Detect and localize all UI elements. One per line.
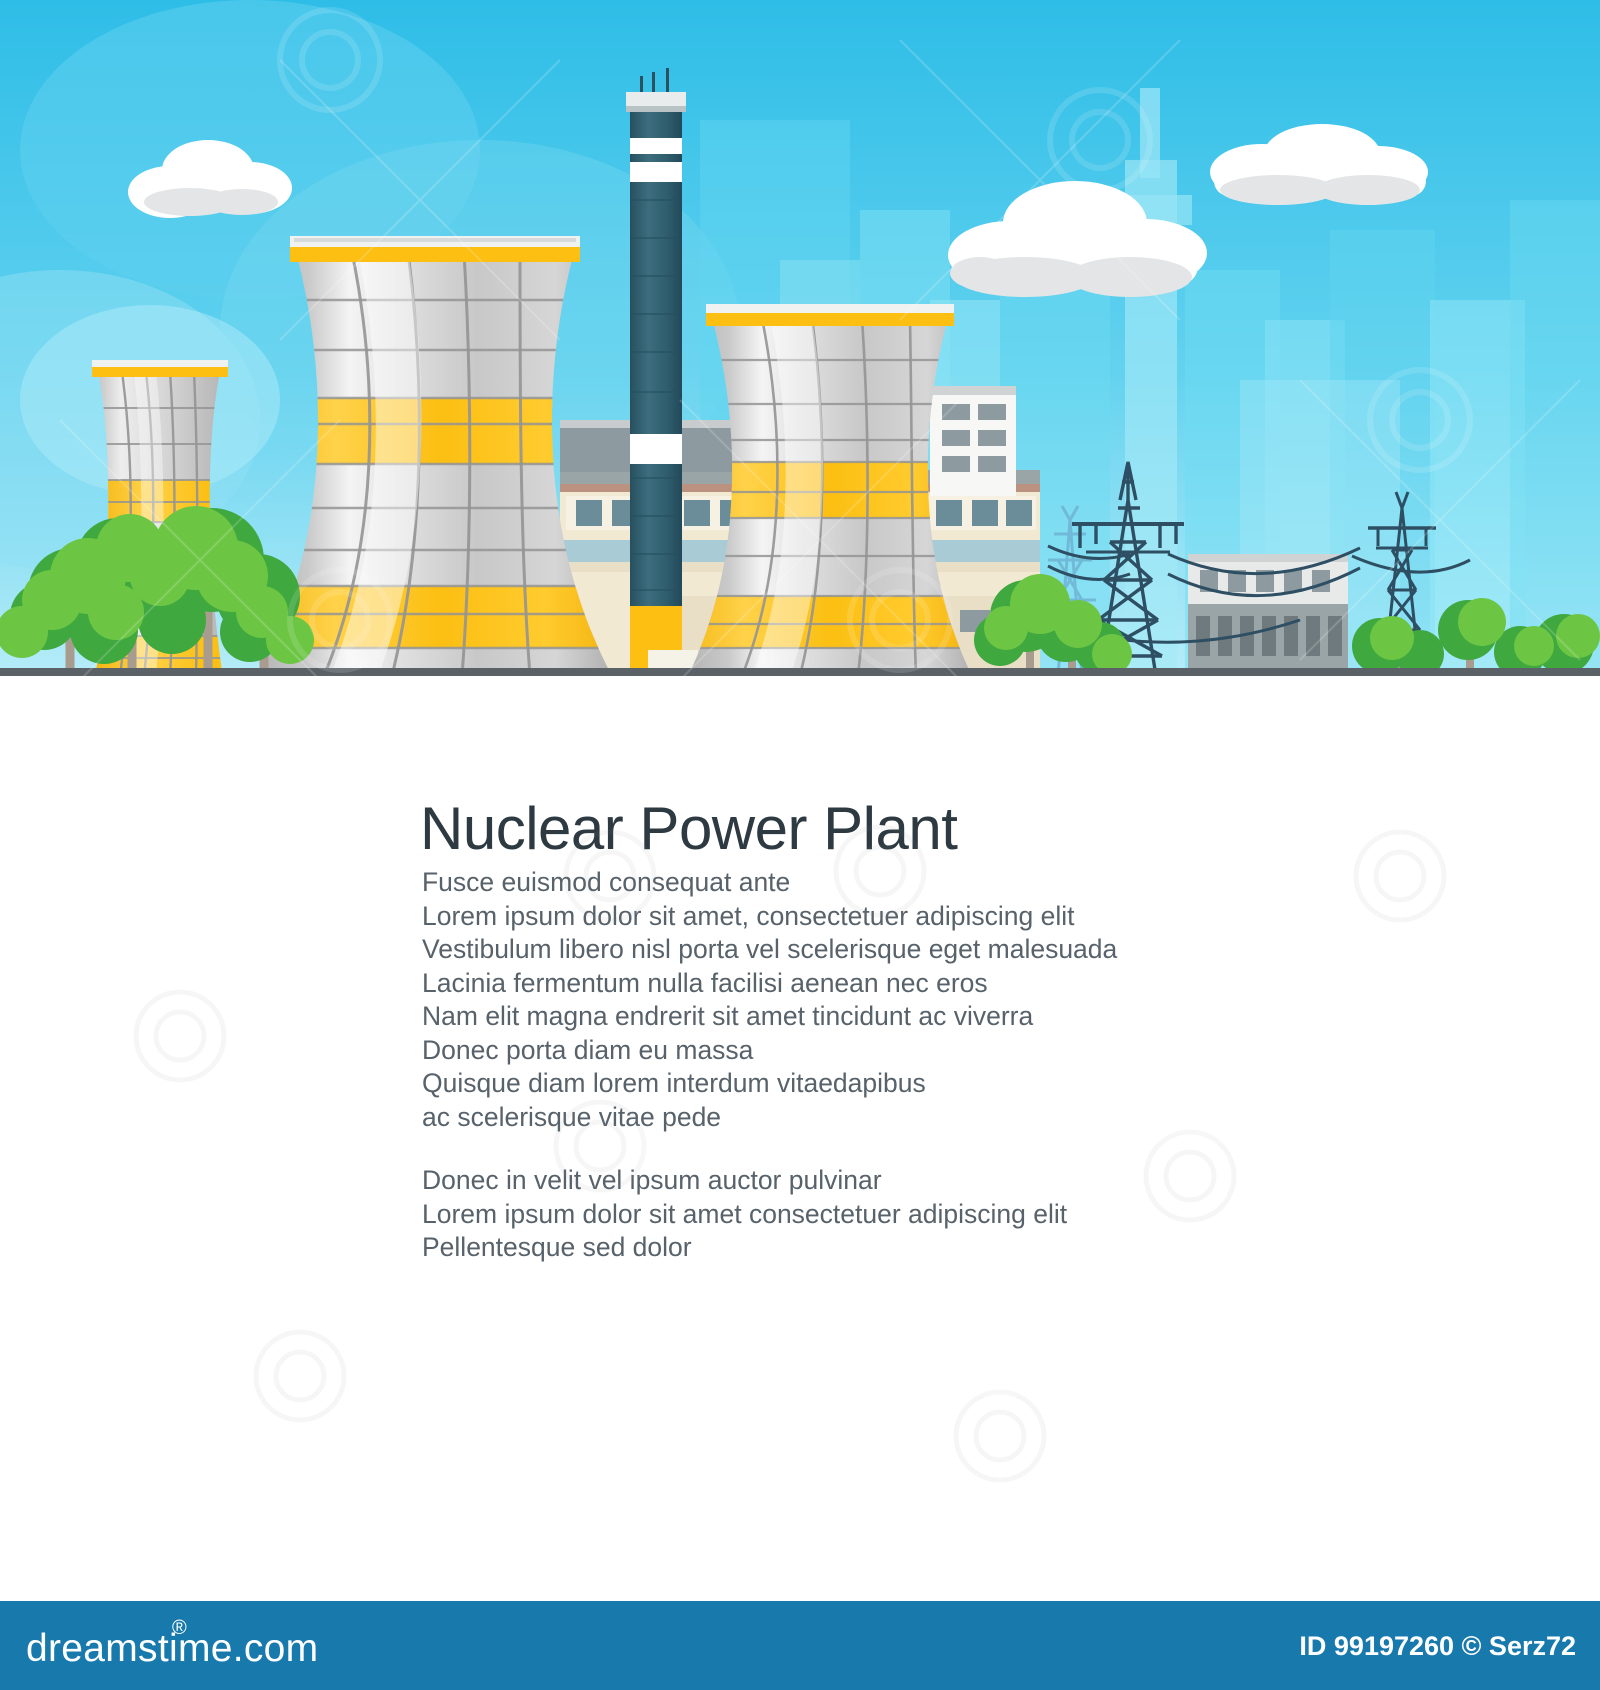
body-paragraph-1: Fusce euismod consequat ante Lorem ipsum… bbox=[422, 866, 1322, 1134]
content-panel: Nuclear Power Plant Fusce euismod conseq… bbox=[0, 676, 1600, 1601]
body-paragraph-2: Donec in velit vel ipsum auctor pulvinar… bbox=[422, 1164, 1322, 1265]
footer-bar: dreamstime.com ® ID 99197260 © Serz72 bbox=[0, 1601, 1600, 1690]
paragraph-1-line: Fusce euismod consequat ante bbox=[422, 866, 1322, 900]
paragraph-1-line: Donec porta diam eu massa bbox=[422, 1034, 1322, 1068]
paragraph-1-line: Vestibulum libero nisl porta vel sceleri… bbox=[422, 933, 1322, 967]
paragraph-1-line: Quisque diam lorem interdum vitaedapibus bbox=[422, 1067, 1322, 1101]
paragraph-2-line: Lorem ipsum dolor sit amet consectetuer … bbox=[422, 1198, 1322, 1232]
ground-strip bbox=[0, 668, 1600, 676]
office-block bbox=[930, 386, 1016, 496]
paragraph-2-line: Donec in velit vel ipsum auctor pulvinar bbox=[422, 1164, 1322, 1198]
paragraph-1-line: ac scelerisque vitae pede bbox=[422, 1101, 1322, 1135]
image-id-label: ID 99197260 © Serz72 bbox=[1299, 1631, 1576, 1662]
paragraph-2-line: Pellentesque sed dolor bbox=[422, 1231, 1322, 1265]
paragraph-1-line: Lacinia fermentum nulla facilisi aenean … bbox=[422, 967, 1322, 1001]
illustration-banner bbox=[0, 0, 1600, 676]
paragraph-1-line: Lorem ipsum dolor sit amet, consectetuer… bbox=[422, 900, 1322, 934]
registered-trademark-icon: ® bbox=[172, 1617, 187, 1640]
paragraph-1-line: Nam elit magna endrerit sit amet tincidu… bbox=[422, 1000, 1322, 1034]
page-title: Nuclear Power Plant bbox=[420, 794, 957, 863]
